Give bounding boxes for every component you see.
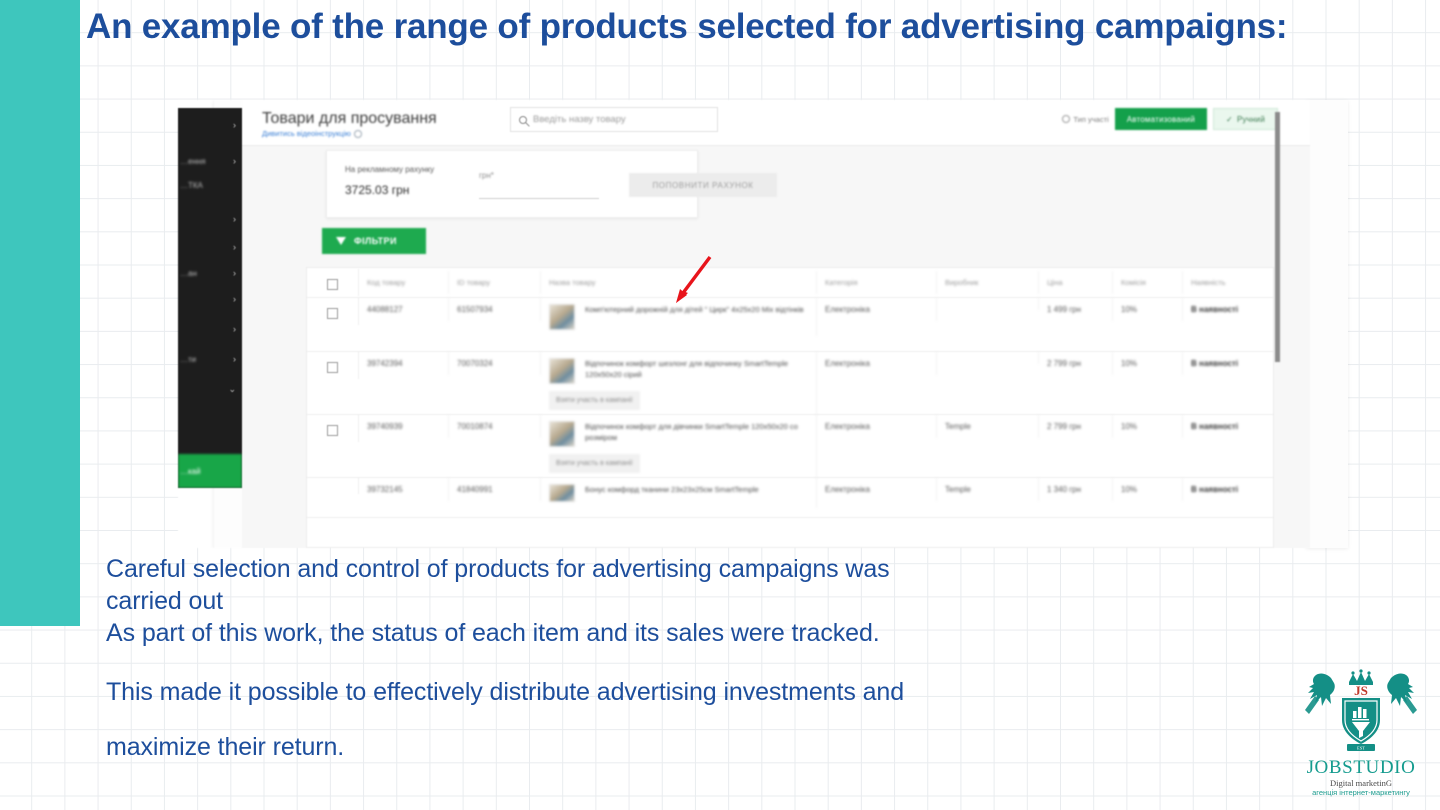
cell-stock: В наявності [1183,478,1274,501]
row-checkbox[interactable] [327,362,338,373]
product-block: Бонус комфорд тканини 23х23х25см SmartTe… [549,484,808,502]
filter-funnel-icon [336,237,346,245]
participation-type-hint: Тип участі [1062,115,1108,124]
sidebar-item-5[interactable]: …ан › [178,260,242,286]
search-input[interactable]: Введіть назву товару [510,107,718,132]
row-select-cell[interactable] [307,478,359,494]
chevron-right-icon: › [233,268,236,278]
table-row[interactable]: 39732145 41840991 Бонус комфорд тканини … [307,478,1273,518]
row-select-cell[interactable] [307,298,359,325]
mode-manual-label: Ручний [1237,115,1265,124]
cell-id: 41840991 [449,478,541,501]
table-header-row: Код товару ID товару Назва товару Катего… [307,268,1273,298]
row-select-cell[interactable] [307,415,359,442]
body-paragraph-4: maximize their return. [106,731,1266,763]
filters-button[interactable]: ФІЛЬТРИ [322,228,426,254]
logo-tagline-en: Digital marketinG [1297,778,1425,788]
logo-ribbon-text: EST [1357,746,1365,751]
teal-accent-bar [0,0,80,626]
cell-code: 39732145 [359,478,449,501]
body-paragraph-3: This made it possible to effectively dis… [106,676,1266,708]
topup-amount-input[interactable] [479,181,599,199]
logo-horse-right [1387,674,1417,714]
product-thumbnail [549,358,575,384]
page-title: Товари для просування [262,110,437,128]
filters-button-label: ФІЛЬТРИ [354,236,397,246]
cell-category: Електроніка [817,415,937,438]
cell-price: 1 340 грн [1039,478,1113,501]
video-instruction-link[interactable]: Дивитись відеоінструкцію [262,129,362,138]
logo-shield [1342,698,1380,744]
cell-price: 1 499 грн [1039,298,1113,321]
red-annotation-arrow [650,245,730,315]
product-name[interactable]: Бонус комфорд тканини 23х23х25см SmartTe… [585,484,759,495]
chevron-right-icon: › [233,156,236,166]
cell-code: 44088127 [359,298,449,321]
chevron-right-icon: › [233,120,236,130]
logo-crest-icon: JS EST [1297,664,1425,754]
product-block: Відпочинок комфорт для дівчинки SmartTem… [549,421,808,447]
check-icon: ✓ [1226,115,1233,124]
chevron-right-icon: › [233,294,236,304]
body-line-carried-out: carried out [106,585,1256,617]
sidebar-item-8[interactable]: …ти › [178,346,242,372]
sidebar-item-2[interactable]: …ТКА [178,172,242,198]
screenshot-outer-panel [1306,100,1348,548]
cell-manufacturer [937,352,1039,364]
column-header-stock[interactable]: Наявність [1183,271,1274,294]
cell-name: Відпочинок комфорт для дівчинки SmartTem… [541,415,817,479]
sidebar-item-6[interactable]: › [178,286,242,312]
cell-commission: 10% [1113,478,1183,501]
info-icon [1062,115,1070,123]
sidebar-item-label: …ення [180,157,206,166]
cell-category: Електроніка [817,352,937,375]
row-checkbox[interactable] [327,425,338,436]
column-header-category[interactable]: Категорія [817,271,937,294]
sidebar-item-0[interactable]: › [178,112,242,138]
app-sidebar[interactable]: › …ення › …ТКА › › …ан › › › [178,108,242,488]
product-name[interactable]: Відпочинок комфорт для дівчинки SmartTem… [585,421,808,443]
app-topbar: Товари для просування Дивитись відеоінст… [242,100,1310,146]
body-paragraph-2: carried out As part of this work, the st… [106,616,1256,649]
chevron-right-icon: › [233,354,236,364]
sidebar-item-highlighted[interactable]: …кай [178,454,242,488]
column-header-manufacturer[interactable]: Виробник [937,271,1039,294]
logo-wordmark: JOBSTUDIO [1297,757,1425,779]
stock-status: В наявності [1191,422,1238,431]
sidebar-item-7[interactable]: › [178,316,242,342]
logo-tagline-ua: агенція інтернет-маркетингу [1297,788,1425,797]
mode-manual-button[interactable]: ✓ Ручний [1213,108,1278,130]
cell-stock: В наявності [1183,352,1274,375]
embedded-app-screenshot: › …ення › …ТКА › › …ан › › › [178,100,1310,548]
sidebar-item-label: …ти [180,355,196,364]
cell-commission: 10% [1113,298,1183,321]
sidebar-item-label: …ТКА [180,181,203,190]
chevron-right-icon: › [233,214,236,224]
chevron-down-icon: ⌄ [228,384,236,395]
chevron-right-icon: › [233,242,236,252]
ad-balance-card: На рекламному рахунку 3725.03 грн грн* П… [326,150,698,218]
select-all-checkbox[interactable] [327,279,338,290]
app-main-area: Товари для просування Дивитись відеоінст… [242,100,1310,548]
participation-mode-group: Тип участі Автоматизований ✓ Ручний [1062,108,1278,130]
topup-account-button[interactable]: ПОПОВНИТИ РАХУНОК [629,173,777,197]
row-checkbox[interactable] [327,308,338,319]
cell-manufacturer: Temple [937,478,1039,501]
cell-commission: 10% [1113,415,1183,438]
table-row[interactable]: 39742394 70070324 Відпочинок комфорт шез… [307,352,1273,415]
select-all-cell[interactable] [307,269,359,296]
product-thumbnail [549,484,575,502]
cell-name: Відпочинок комфорт шезлонг для відпочинк… [541,352,817,416]
column-header-code[interactable]: Код товару [359,271,449,294]
body-paragraph-1: Careful selection and control of product… [106,553,1236,585]
table-row[interactable]: 39740939 70010874 Відпочинок комфорт для… [307,415,1273,478]
cell-code: 39740939 [359,415,449,438]
mode-automatic-button[interactable]: Автоматизований [1115,108,1207,130]
help-icon[interactable] [354,130,362,138]
table-row[interactable]: 44088127 61507934 Комп'ютерний дорожній … [307,298,1273,352]
cell-stock: В наявності [1183,298,1274,321]
stock-status: В наявності [1191,359,1238,368]
cell-category: Електроніка [817,298,937,321]
cell-commission: 10% [1113,352,1183,375]
join-campaign-button[interactable]: Взяти участь в кампанії [549,391,640,410]
participation-type-label: Тип участі [1073,115,1108,124]
sidebar-item-label: …ан [180,269,197,278]
body-line-tracked: As part of this work, the status of each… [106,617,1256,649]
product-name[interactable]: Відпочинок комфорт шезлонг для відпочинк… [585,358,808,380]
chevron-right-icon: › [233,324,236,334]
cell-id: 70010874 [449,415,541,438]
topup-amount-label: грн* [479,171,494,180]
stock-status: В наявності [1191,305,1238,314]
logo-horse-left [1305,674,1335,714]
product-block: Відпочинок комфорт шезлонг для відпочинк… [549,358,808,384]
cell-code: 39742394 [359,352,449,375]
cell-id: 61507934 [449,298,541,321]
balance-value: 3725.03 грн [345,183,409,197]
search-icon [519,116,527,124]
sidebar-item-4[interactable]: › [178,234,242,260]
balance-label: На рекламному рахунку [345,165,434,174]
cell-id: 70070324 [449,352,541,375]
slide-title: An example of the range of products sele… [86,4,1406,49]
cell-category: Електроніка [817,478,937,501]
video-instruction-label: Дивитись відеоінструкцію [262,129,351,138]
logo-monogram: JS [1354,683,1368,698]
cell-price: 2 799 грн [1039,352,1113,375]
column-header-commission[interactable]: Комісія [1113,271,1183,294]
sidebar-item-3[interactable]: › [178,206,242,232]
cell-name: Бонус комфорд тканини 23х23х25см SmartTe… [541,478,817,508]
sidebar-item-9[interactable]: ⌄ [178,376,242,402]
cell-price: 2 799 грн [1039,415,1113,438]
products-table: Код товару ID товару Назва товару Катего… [306,267,1274,548]
cell-manufacturer: Temple [937,415,1039,438]
column-header-id[interactable]: ID товару [449,271,541,294]
product-thumbnail [549,304,575,330]
app-vertical-scrollbar[interactable] [1275,112,1280,362]
stock-status: В наявності [1191,485,1238,494]
join-campaign-button[interactable]: Взяти участь в кампанії [549,454,640,473]
cell-manufacturer [937,298,1039,310]
jobstudio-logo: JS EST JOBSTUDIO Digital marketinG агенц… [1297,664,1425,790]
column-header-price[interactable]: Ціна [1039,271,1113,294]
sidebar-item-1[interactable]: …ення › [178,148,242,174]
cell-stock: В наявності [1183,415,1274,438]
row-select-cell[interactable] [307,352,359,379]
search-placeholder: Введіть назву товару [533,114,626,125]
product-thumbnail [549,421,575,447]
